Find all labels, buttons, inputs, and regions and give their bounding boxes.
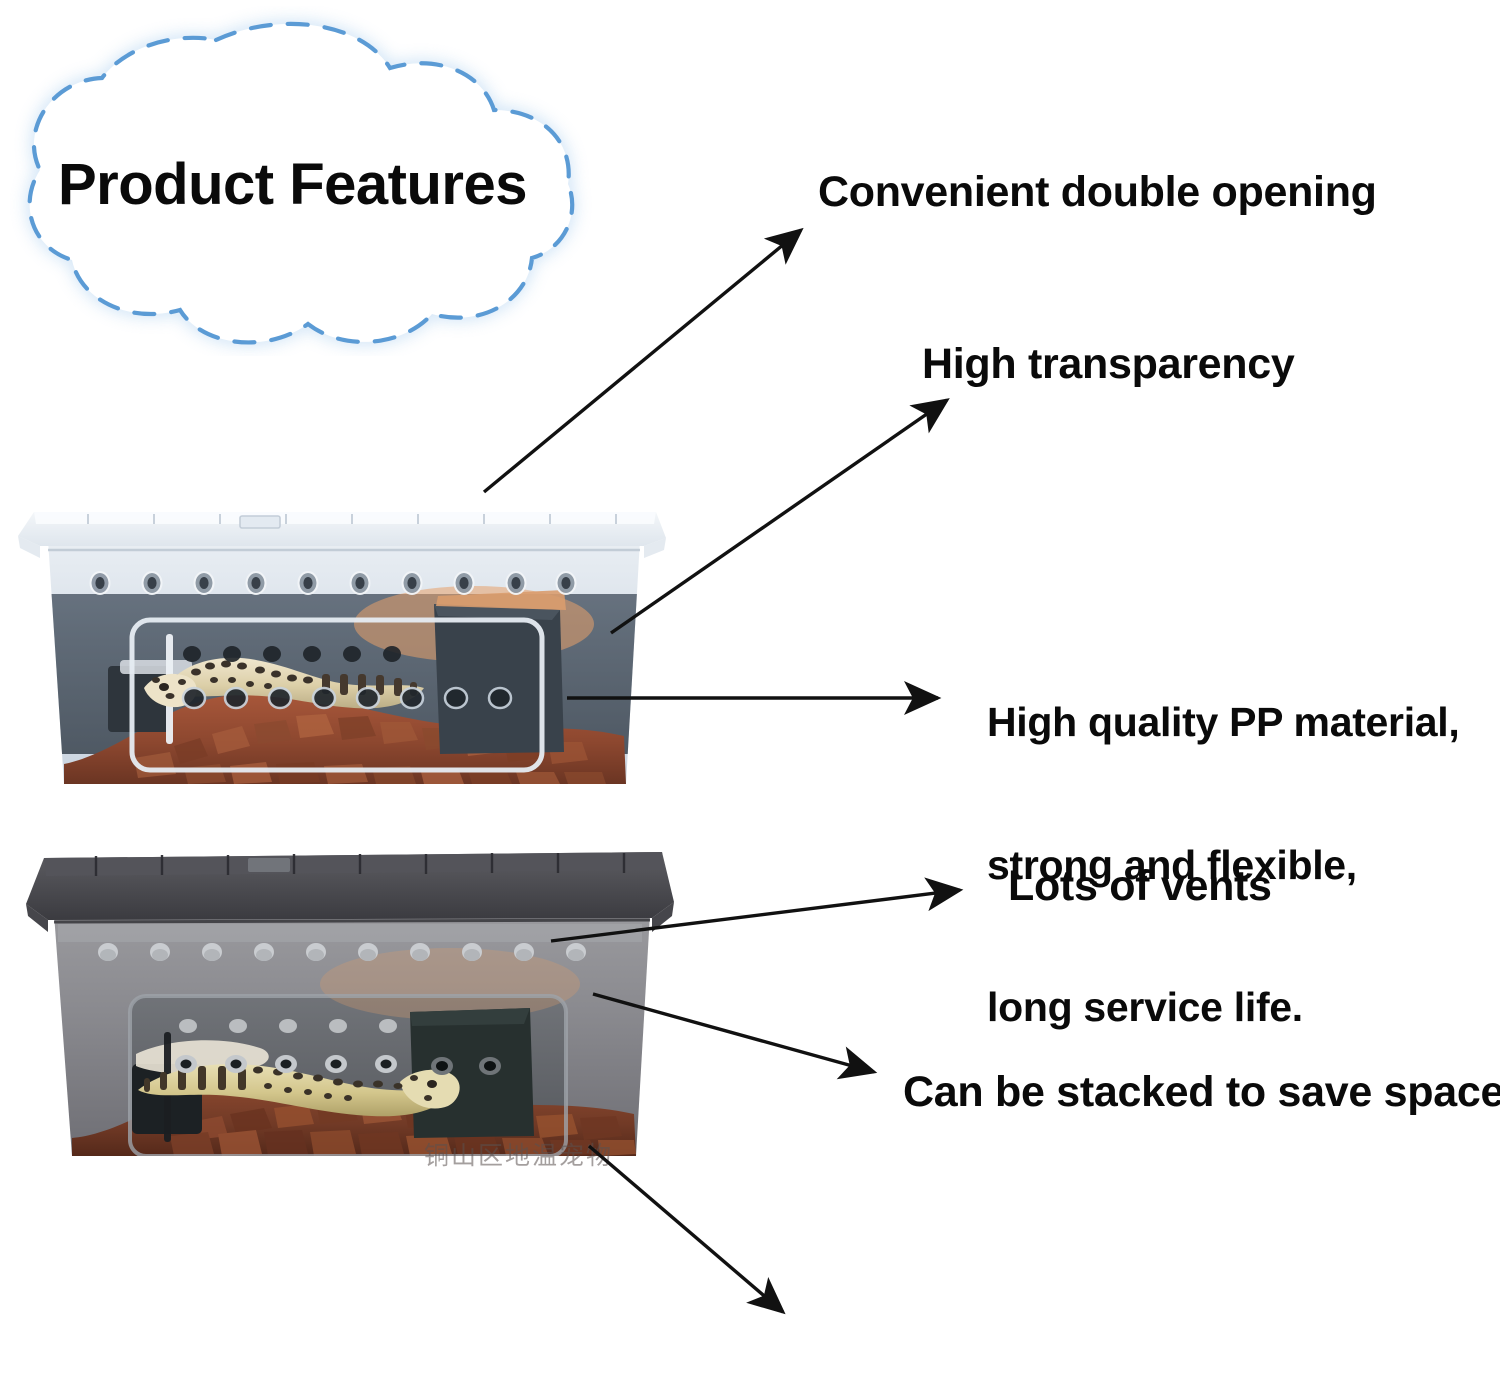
page-title: Product Features [58, 156, 578, 214]
smoke-container-image [10, 836, 690, 1181]
feature-label-stackable: Can be stacked to save space. [903, 1068, 1500, 1118]
watermark-text: 铜山区地温宠物 [424, 1136, 613, 1172]
product-features-banner: Product Features [8, 6, 608, 356]
feature-label-buckle-line-1: Built-in buckle design, [812, 1394, 1441, 1398]
feature-label-pp-material-line-3: long service life. [987, 984, 1460, 1032]
feature-label-vents: Lots of vents [1008, 862, 1272, 912]
infographic-page: Product Features [0, 0, 1500, 1398]
feature-label-transparency: High transparency [922, 340, 1294, 390]
feature-label-double-opening: Convenient double opening [818, 168, 1377, 218]
feature-label-pp-material-line-1: High quality PP material, [987, 699, 1460, 747]
clear-container-image [4, 484, 684, 814]
feature-label-buckle: Built-in buckle design, firmly stuck sup… [812, 1304, 1441, 1398]
